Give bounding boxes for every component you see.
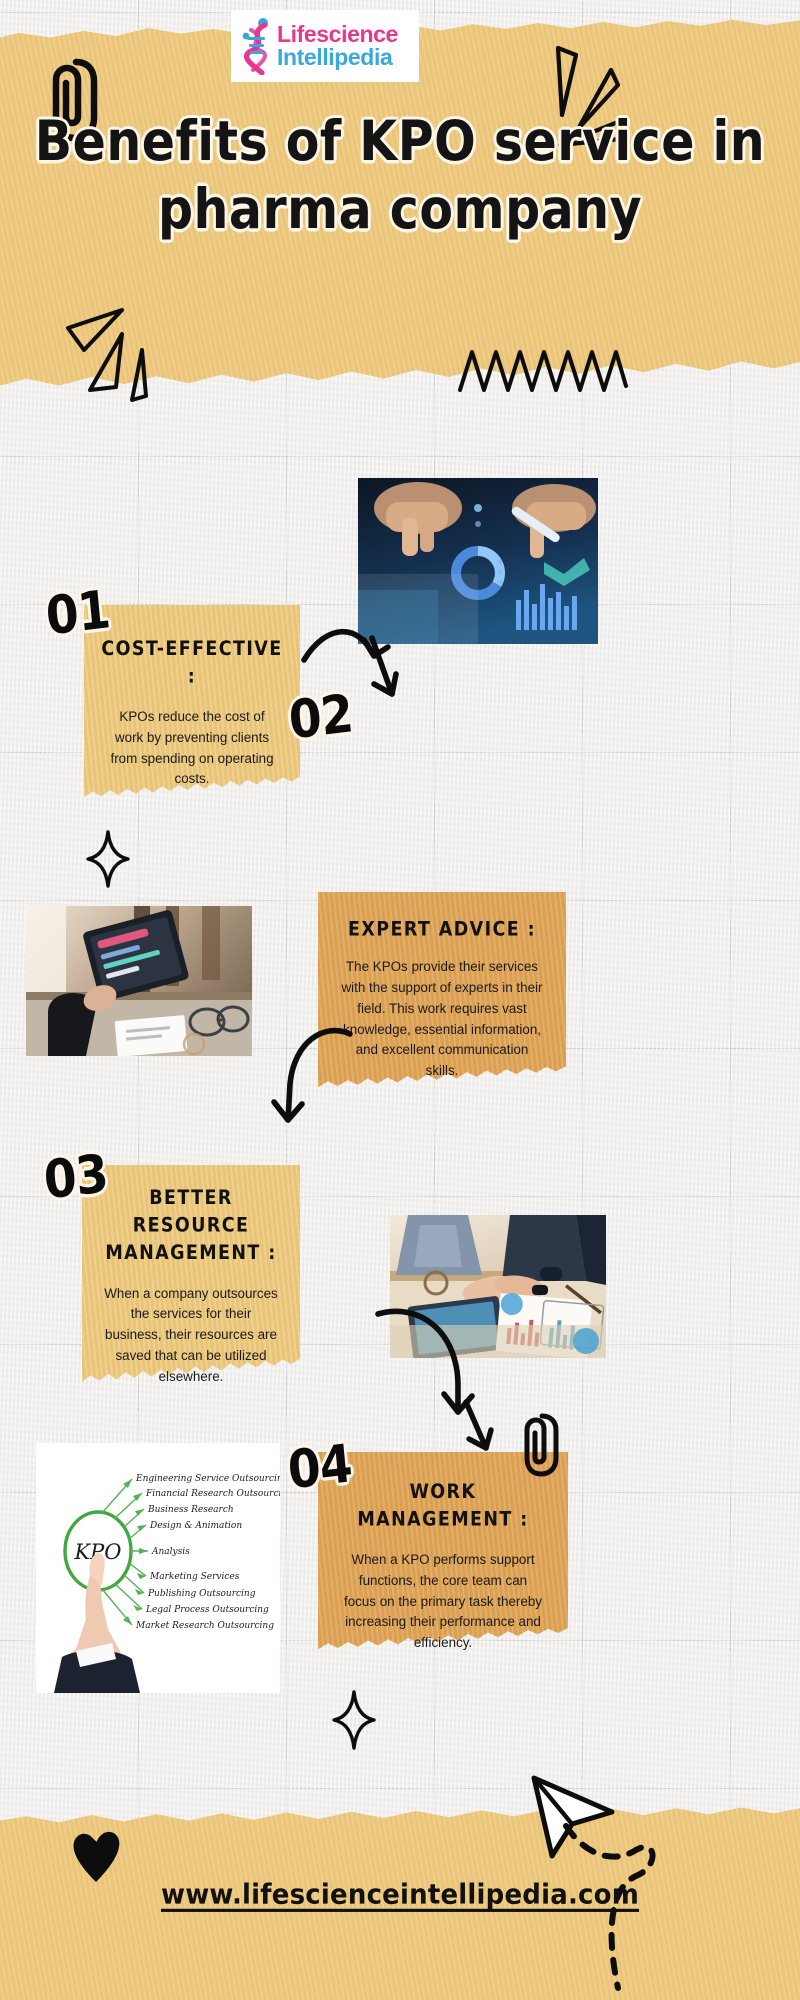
step-number-02: 02: [286, 683, 355, 752]
card-body-01: KPOs reduce the cost of work by preventi…: [98, 707, 286, 791]
page-title: Benefits of KPO service in pharma compan…: [0, 108, 800, 243]
card-title-03: BETTER RESOURCE MANAGEMENT :: [96, 1185, 286, 1267]
card-title-04: WORK MANAGEMENT :: [332, 1480, 554, 1535]
step-photo-04: KPO Engineering Service Outsourcing Fina…: [36, 1443, 280, 1693]
kpo-spoke-label: Analysis: [151, 1547, 190, 1557]
step-card-01: COST-EFFECTIVE : KPOs reduce the cost of…: [84, 605, 300, 800]
card-title-01: COST-EFFECTIVE :: [98, 637, 286, 692]
kpo-spoke-label: Financial Research Outsourcing: [145, 1489, 280, 1499]
step-card-04: WORK MANAGEMENT : When a KPO performs su…: [318, 1452, 568, 1652]
card-body-04: When a KPO performs support functions, t…: [332, 1550, 554, 1655]
step-number-04: 04: [285, 1433, 354, 1502]
footer-website-url[interactable]: www.lifescienceintellipedia.com: [0, 1879, 800, 1911]
kpo-spoke-label: Publishing Outsourcing: [147, 1589, 256, 1599]
kpo-spoke-label: Design & Animation: [149, 1521, 242, 1531]
step-photo-02: [26, 906, 252, 1056]
step-photo-01: [358, 478, 598, 644]
kpo-services-diagram: KPO Engineering Service Outsourcing Fina…: [36, 1443, 280, 1693]
logo-line-1: Lifescience: [277, 23, 398, 46]
step-number-03: 03: [41, 1143, 110, 1212]
dna-helix-icon: [238, 17, 274, 75]
infographic-page: Lifescience Intellipedia Benefits of KPO…: [0, 0, 800, 2000]
step-photo-03: [390, 1215, 606, 1358]
kpo-spoke-label: Engineering Service Outsourcing: [135, 1474, 280, 1484]
kpo-spoke-label: Legal Process Outsourcing: [145, 1605, 269, 1615]
kpo-spoke-label: Business Research: [147, 1505, 234, 1515]
kpo-spoke-label: Marketing Services: [149, 1572, 240, 1582]
step-card-03: BETTER RESOURCE MANAGEMENT : When a comp…: [82, 1165, 300, 1385]
brand-logo[interactable]: Lifescience Intellipedia: [231, 10, 419, 82]
kpo-spoke-label: Market Research Outsourcing: [135, 1621, 274, 1631]
card-title-02: EXPERT ADVICE :: [332, 917, 552, 944]
card-body-03: When a company outsources the services f…: [96, 1284, 286, 1389]
logo-line-2: Intellipedia: [277, 46, 398, 69]
card-body-02: The KPOs provide their services with the…: [332, 957, 552, 1082]
step-card-02: EXPERT ADVICE : The KPOs provide their s…: [318, 892, 566, 1090]
step-number-01: 01: [43, 579, 112, 648]
